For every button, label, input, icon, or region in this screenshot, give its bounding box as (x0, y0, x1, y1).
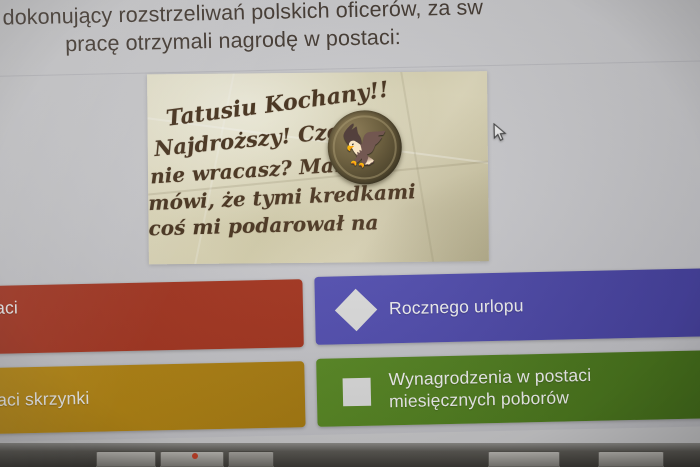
desk-edge (0, 443, 700, 467)
square-bullet-icon (343, 378, 372, 407)
answer-option-purple[interactable]: Rocznego urlopu (314, 268, 700, 345)
answer-option-amber-label: ienia w postaci skrzynki (0, 388, 90, 414)
hardware-key (488, 451, 560, 467)
hardware-key (96, 451, 156, 467)
answer-option-red[interactable]: ienia w postaci h poborów (0, 279, 304, 356)
indicator-light (192, 453, 198, 459)
eagle-glyph: 🦅 (340, 126, 390, 166)
slide-title: dokonujący rozstrzeliwań polskich oficer… (0, 0, 700, 61)
answer-option-green[interactable]: Wynagrodzenia w postaci miesięcznych pob… (316, 350, 700, 427)
eagle-seal-icon: 🦅 (327, 110, 402, 185)
mouse-cursor-icon (493, 123, 507, 142)
diamond-bullet-icon (335, 289, 377, 331)
hardware-key (598, 451, 664, 467)
projected-slide: dokonujący rozstrzeliwań polskich oficer… (0, 0, 700, 442)
projection-photo: dokonujący rozstrzeliwań polskich oficer… (0, 0, 700, 467)
handwritten-note-photo: Tatusiu Kochany!! Najdroższy! Czemu nie … (147, 71, 489, 264)
answer-option-amber[interactable]: ienia w postaci skrzynki (0, 361, 306, 436)
answer-option-purple-label: Rocznego urlopu (389, 295, 524, 320)
answer-option-red-label: ienia w postaci h poborów (0, 298, 19, 344)
answer-option-green-label: Wynagrodzenia w postaci miesięcznych pob… (388, 365, 592, 413)
hardware-key (228, 451, 274, 467)
note-line-5: coś mi podarował na (148, 210, 379, 240)
